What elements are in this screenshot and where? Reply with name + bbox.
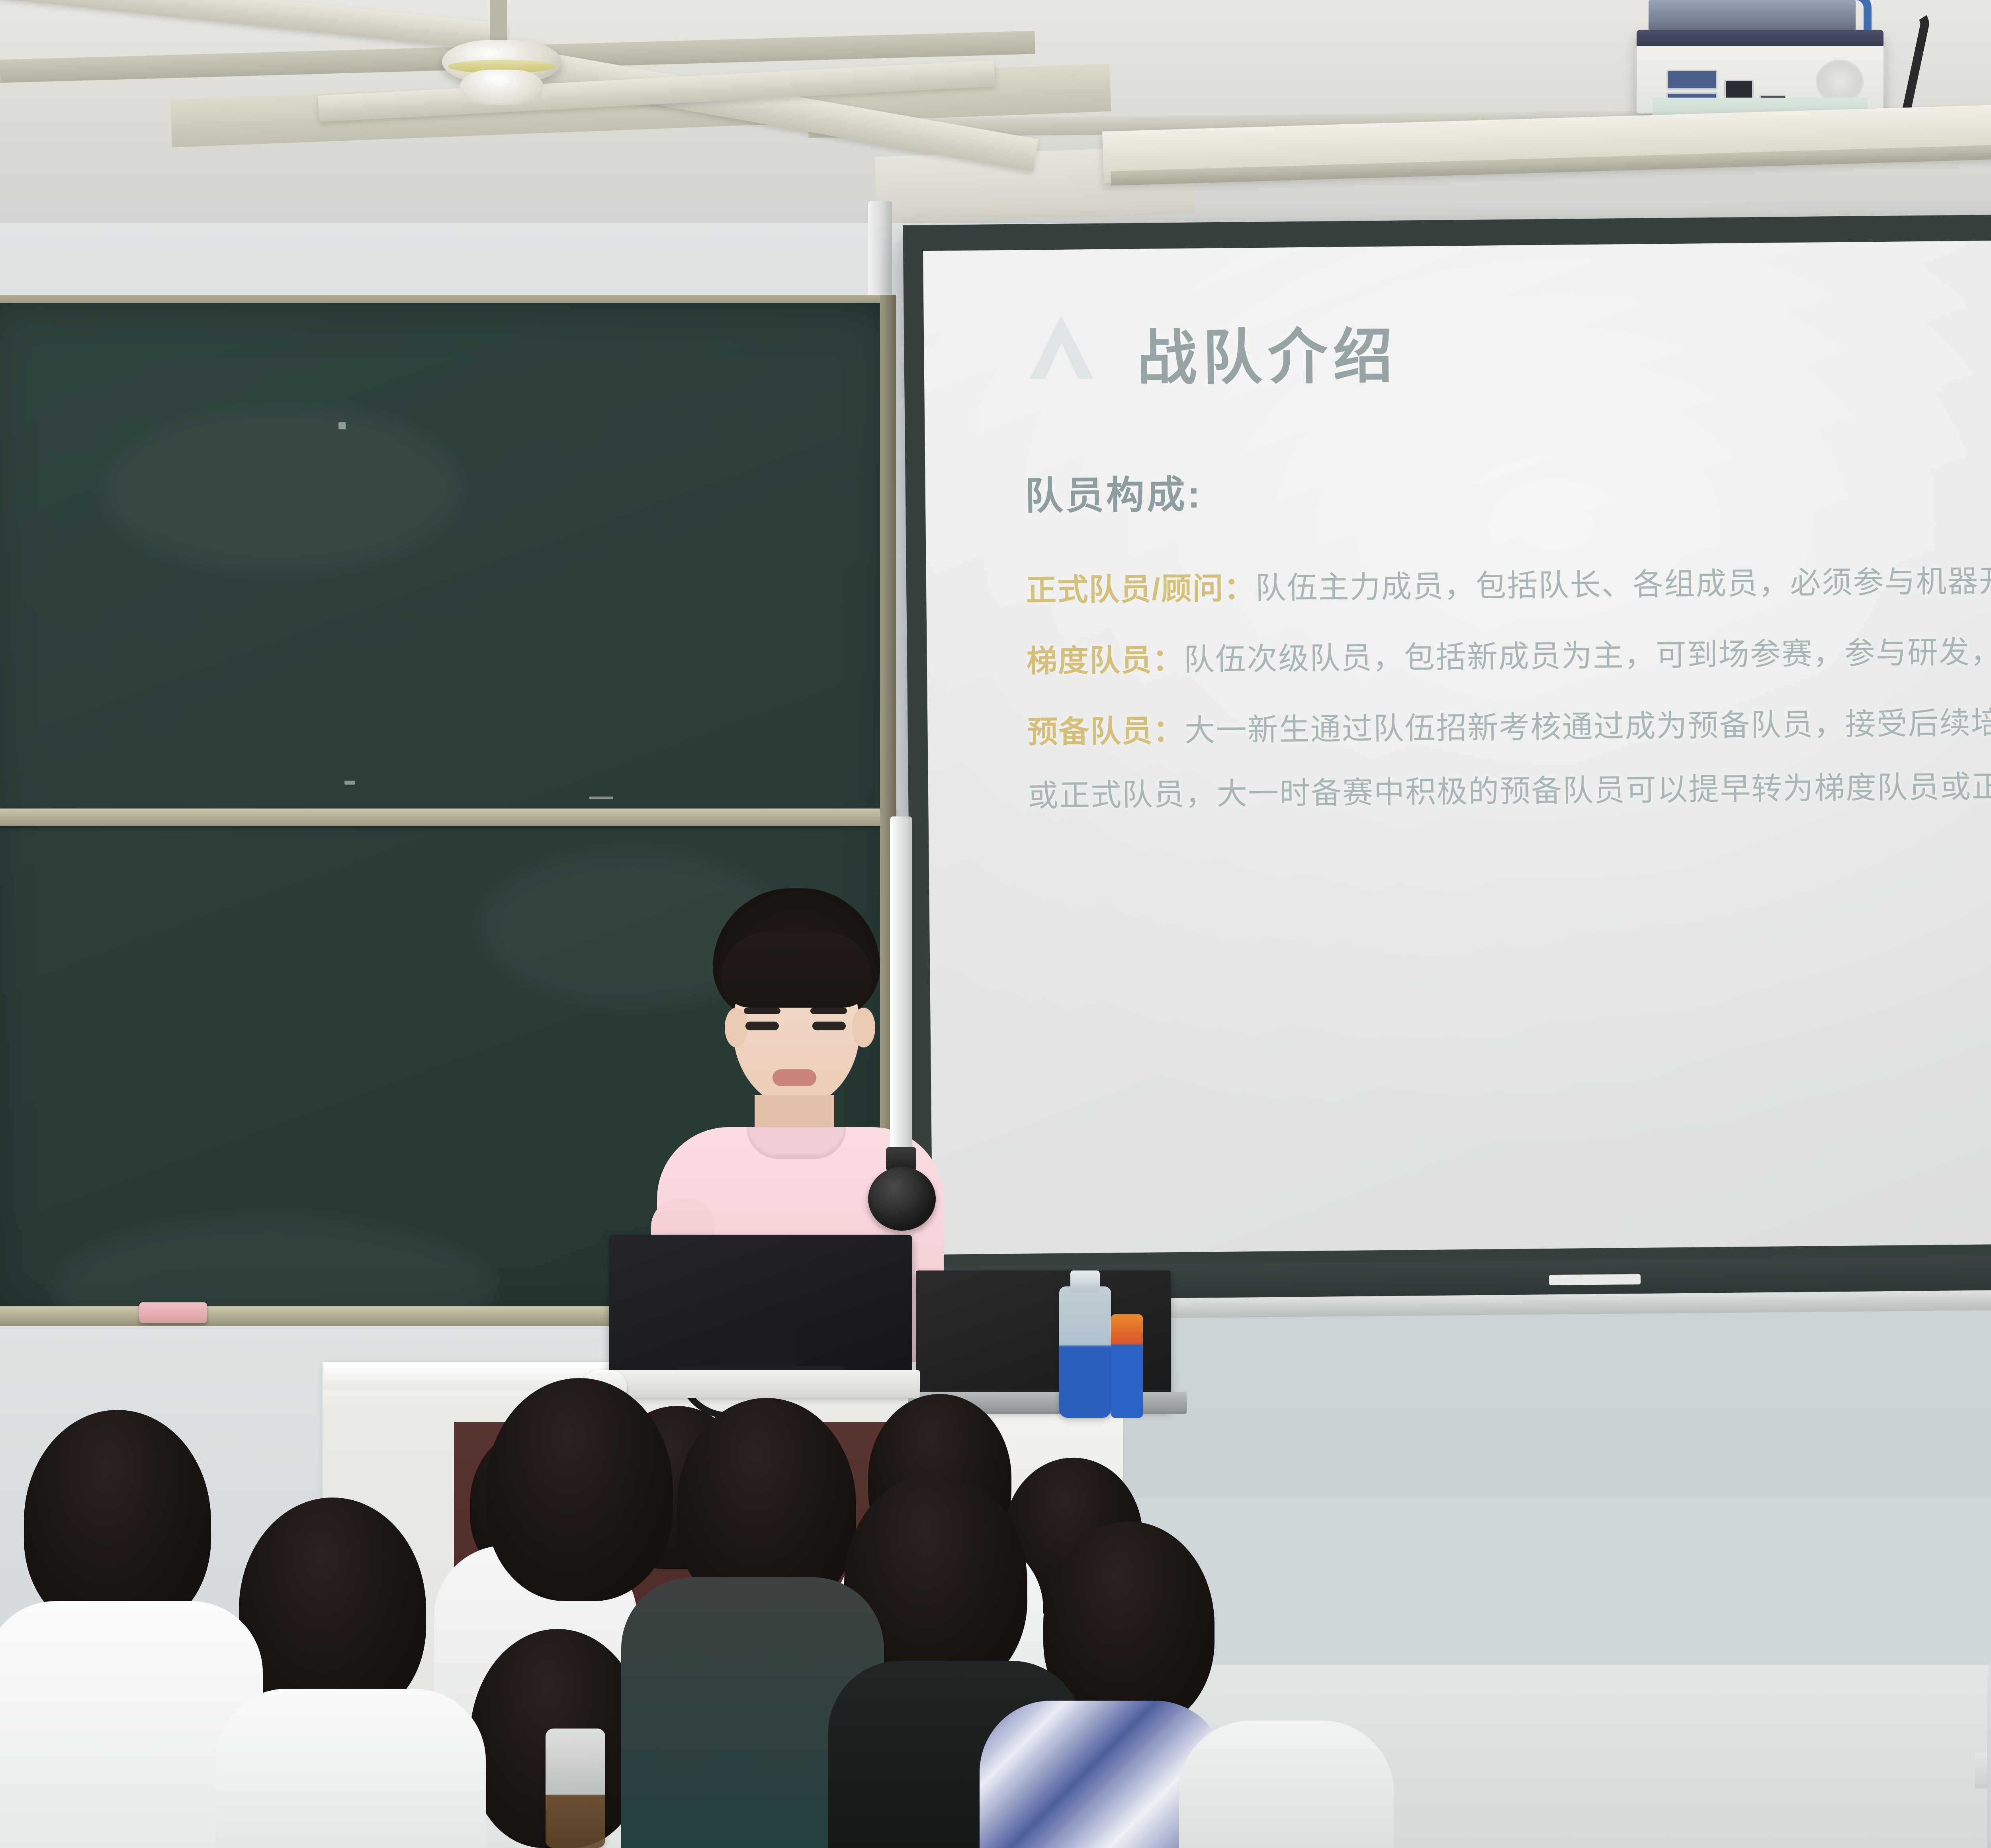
projector-vga-port xyxy=(1666,70,1717,90)
paragraph-label: 正式队员/顾问 xyxy=(1026,572,1224,608)
paragraph-separator: ： xyxy=(1152,643,1184,677)
projector-top-panel xyxy=(1637,30,1883,46)
presenter-eyebrow xyxy=(810,1008,847,1014)
slide-header: 战队介绍 机甲大师 ROBOMASTER xyxy=(1023,292,1991,397)
fan-light-cap xyxy=(460,70,544,105)
audience-body xyxy=(1987,1613,1991,1848)
desktop-keyboard[interactable] xyxy=(589,1370,920,1398)
audience-head xyxy=(239,1498,426,1721)
slide-title: 战队介绍 xyxy=(1136,308,1398,397)
slide-paragraph-formal-member: 正式队员/顾问：队伍主力成员，包括队长、各组成员，必须参与机器开发和现场比赛，发… xyxy=(1025,544,1991,622)
slide-body-heading: 队员构成: xyxy=(1025,450,1991,520)
presenter-eyebrow xyxy=(744,1008,780,1014)
presenter-ear xyxy=(852,1008,875,1047)
triangle-mountain-icon xyxy=(1023,309,1099,386)
slide-paragraph-tier-member: 梯度队员：队伍次级队员，包括新成员为主，可到场参赛，参与研发，发放参赛证书； xyxy=(1026,615,1991,693)
paragraph-label: 梯度队员 xyxy=(1026,643,1152,679)
audience-body xyxy=(215,1689,486,1848)
water-bottle[interactable] xyxy=(1059,1286,1111,1418)
slide-body: 队员构成: 正式队员/顾问：队伍主力成员，包括队长、各组成员，必须参与机器开发和… xyxy=(1025,450,1991,835)
drink-bottle-secondary[interactable] xyxy=(1111,1314,1143,1418)
paragraph-text: 队伍次级队员，包括新成员为主，可到场参赛，参与研发，发放参赛证书； xyxy=(1183,633,1991,677)
microphone-icon xyxy=(868,1167,936,1231)
presenter-eye xyxy=(745,1022,779,1030)
paragraph-text: 队伍主力成员，包括队长、各组成员，必须参与机器开发和现场比赛，发放奖状； xyxy=(1255,560,1991,605)
paragraph-separator: ： xyxy=(1153,714,1185,748)
slide-paragraph-reserve-member: 预备队员：大一新生通过队伍招新考核通过成为预备队员，接受后续培训及考核后，在大二… xyxy=(1027,686,1991,828)
chalkboard-eraser[interactable] xyxy=(139,1302,207,1323)
classroom-scene: 战队介绍 机甲大师 ROBOMASTER 队员构成: 正式队员/顾问：队伍主力成… xyxy=(0,0,1991,1848)
water-bottle-cap xyxy=(1070,1270,1100,1293)
paragraph-label: 预备队员 xyxy=(1027,714,1153,750)
chalkboard-chalk-rail xyxy=(0,808,896,826)
audience-body xyxy=(1179,1721,1394,1848)
projector-speaker-grille-icon xyxy=(1816,60,1864,104)
presenter-eye xyxy=(812,1022,846,1030)
audience-head xyxy=(24,1410,211,1633)
screen-pull-handle[interactable] xyxy=(1549,1274,1641,1285)
audience-desk-bottle[interactable] xyxy=(546,1729,605,1848)
projected-slide: 战队介绍 机甲大师 ROBOMASTER 队员构成: 正式队员/顾问：队伍主力成… xyxy=(923,235,1991,1255)
microphone-stand xyxy=(890,816,912,1163)
presenter-fringe xyxy=(721,932,872,1008)
presenter-ear xyxy=(725,1008,748,1047)
audience-head xyxy=(486,1378,673,1601)
presenter-mouth xyxy=(773,1069,816,1086)
paragraph-separator: ： xyxy=(1224,571,1256,606)
